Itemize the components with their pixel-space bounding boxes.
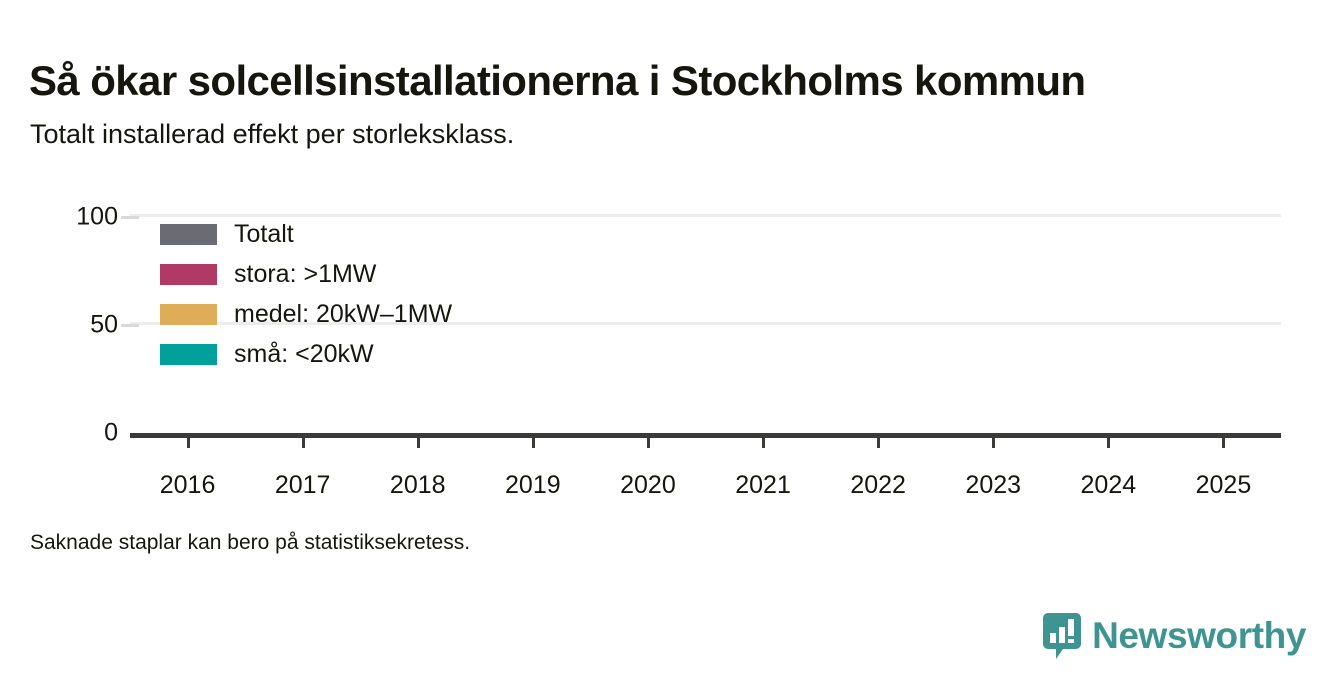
y-axis-label-50: 50 [0, 310, 118, 339]
x-tick-2023 [992, 433, 995, 448]
bar-chart: 2016201720182019202020212022202320242025… [0, 190, 1340, 500]
x-tick-2024 [1107, 433, 1110, 448]
y-tick-mark-100 [121, 216, 139, 219]
bar-group-2019[interactable]: 2019 [475, 210, 590, 433]
x-tick-2017 [302, 433, 305, 448]
legend-item-0[interactable]: Totalt [160, 214, 452, 254]
legend-item-3[interactable]: små: <20kW [160, 334, 452, 374]
legend-item-1[interactable]: stora: >1MW [160, 254, 452, 294]
x-tick-2019 [532, 433, 535, 448]
x-tick-2020 [647, 433, 650, 448]
x-tick-2018 [417, 433, 420, 448]
bar-group-2025[interactable]: 2025 [1166, 210, 1281, 433]
x-axis-label-2021: 2021 [735, 471, 791, 500]
x-tick-2021 [762, 433, 765, 448]
y-tick-mark-50 [121, 324, 139, 327]
legend-swatch-icon-0 [160, 224, 217, 245]
legend-label-2: medel: 20kW–1MW [234, 300, 452, 329]
logo-wordmark: Newsworthy [1092, 615, 1306, 657]
x-tick-2022 [877, 433, 880, 448]
chart-page: Så ökar solcellsinstallationerna i Stock… [0, 0, 1340, 685]
newsworthy-logo[interactable]: Newsworthy [1043, 613, 1306, 659]
y-axis-label-0: 0 [0, 419, 118, 448]
x-tick-2016 [187, 433, 190, 448]
chart-legend: Totaltstora: >1MWmedel: 20kW–1MWsmå: <20… [160, 214, 452, 374]
x-axis-label-2025: 2025 [1196, 471, 1252, 500]
y-axis-label-100: 100 [0, 202, 118, 231]
x-axis-label-2023: 2023 [965, 471, 1021, 500]
x-axis-label-2019: 2019 [505, 471, 561, 500]
speech-bubble-bar-chart-icon [1043, 613, 1081, 659]
x-tick-2025 [1222, 433, 1225, 448]
footnote: Saknade staplar kan bero på statistiksek… [30, 531, 470, 555]
bar-group-2021[interactable]: 2021 [706, 210, 821, 433]
legend-swatch-icon-1 [160, 264, 217, 285]
legend-swatch-icon-2 [160, 304, 217, 325]
legend-swatch-icon-3 [160, 344, 217, 365]
x-axis-label-2017: 2017 [275, 471, 331, 500]
x-axis-label-2016: 2016 [160, 471, 216, 500]
page-subtitle: Totalt installerad effekt per storlekskl… [30, 118, 514, 150]
x-axis-label-2018: 2018 [390, 471, 446, 500]
x-axis-label-2020: 2020 [620, 471, 676, 500]
legend-label-3: små: <20kW [234, 340, 374, 369]
x-axis-label-2024: 2024 [1081, 471, 1137, 500]
legend-label-1: stora: >1MW [234, 260, 376, 289]
legend-item-2[interactable]: medel: 20kW–1MW [160, 294, 452, 334]
bar-group-2023[interactable]: 2023 [936, 210, 1051, 433]
bar-group-2024[interactable]: 2024 [1051, 210, 1166, 433]
x-axis-label-2022: 2022 [850, 471, 906, 500]
bar-group-2022[interactable]: 2022 [821, 210, 936, 433]
legend-label-0: Totalt [234, 220, 294, 249]
bar-group-2020[interactable]: 2020 [590, 210, 705, 433]
page-title: Så ökar solcellsinstallationerna i Stock… [29, 57, 1309, 104]
